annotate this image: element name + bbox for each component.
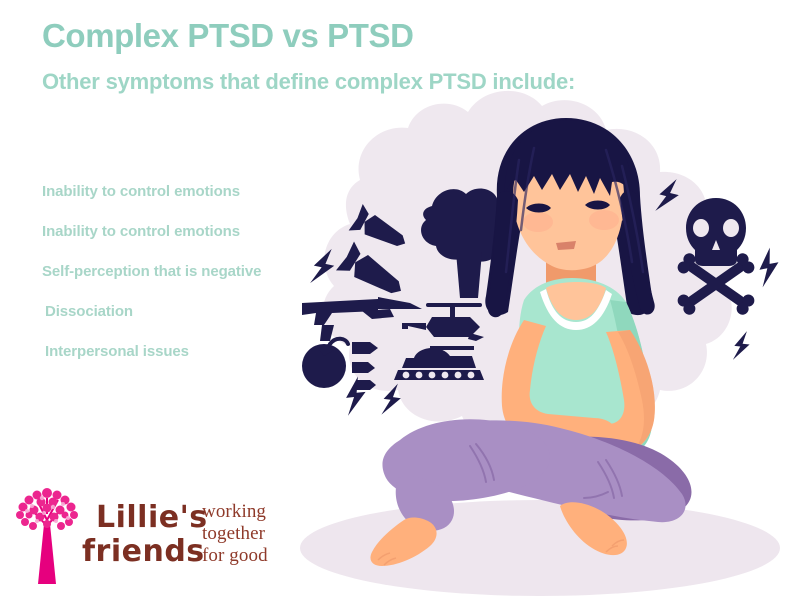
symptom-list: Inability to control emotions Inability … <box>0 172 350 372</box>
logo-tagline: working together for good <box>202 501 268 568</box>
pink-blossom-tree-icon <box>8 480 86 588</box>
list-item: Self-perception that is negative <box>0 252 350 292</box>
infographic-poster: Complex PTSD vs PTSD Other symptoms that… <box>0 0 800 600</box>
list-item: Interpersonal issues <box>0 332 350 372</box>
logo-wordmark: Lillie's friends <box>82 484 194 584</box>
page-subtitle: Other symptoms that define complex PTSD … <box>42 68 612 96</box>
logo-word-line-2: friends <box>82 534 205 569</box>
lightning-bolt-icon <box>733 330 751 361</box>
organisation-logo[interactable]: Lillie's friends working together for go… <box>8 478 298 590</box>
lightning-bolt-icon <box>756 247 782 288</box>
logo-tagline-line-2: together <box>202 523 268 545</box>
list-item: Dissociation <box>0 292 350 332</box>
logo-word-line-1: Lillie's <box>96 500 208 535</box>
list-item: Inability to control emotions <box>0 172 350 212</box>
logo-tagline-line-3: for good <box>202 545 268 567</box>
logo-tagline-line-1: working <box>202 501 268 523</box>
list-item: Inability to control emotions <box>0 212 350 252</box>
page-title: Complex PTSD vs PTSD <box>42 18 414 55</box>
figure-shadow <box>300 500 780 596</box>
